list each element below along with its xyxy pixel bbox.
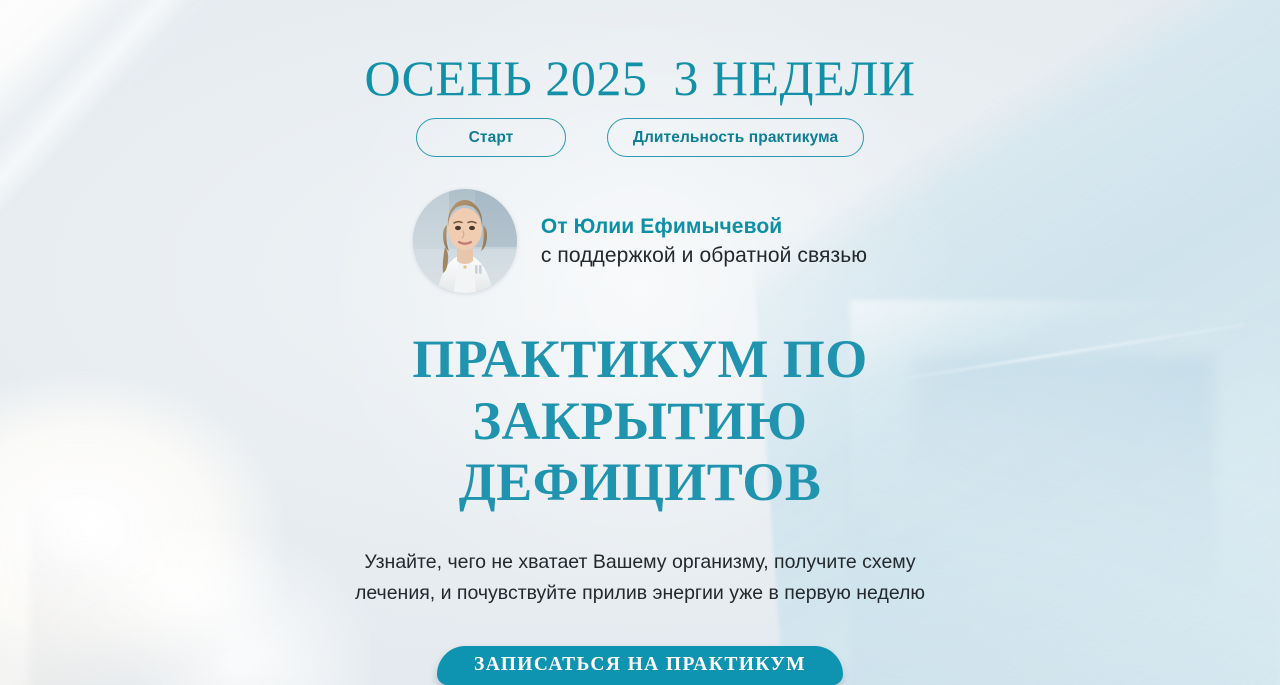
author-text: От Юлии Ефимычевой с поддержкой и обратн… <box>541 215 867 268</box>
headline: ОСЕНЬ 2025 3 НЕДЕЛИ <box>364 52 915 104</box>
hero-description-line-1: Узнайте, чего не хватает Вашему организм… <box>355 547 925 579</box>
hero-description: Узнайте, чего не хватает Вашему организм… <box>355 547 925 610</box>
author-name: От Юлии Ефимычевой <box>541 215 867 239</box>
signup-button[interactable]: ЗАПИСАТЬСЯ НА ПРАКТИКУМ <box>437 646 843 685</box>
pill-row: Старт Длительность практикума <box>416 118 864 157</box>
headline-duration: 3 НЕДЕЛИ <box>673 52 915 104</box>
page-title: ПРАКТИКУМ ПО ЗАКРЫТИЮ ДЕФИЦИТОВ <box>260 329 1020 514</box>
avatar <box>413 189 517 293</box>
pill-start-button[interactable]: Старт <box>416 118 566 157</box>
headline-season: ОСЕНЬ 2025 <box>364 52 647 104</box>
pill-duration-button[interactable]: Длительность практикума <box>607 118 864 157</box>
page-title-line-2: ДЕФИЦИТОВ <box>459 452 821 512</box>
author-subtitle: с поддержкой и обратной связью <box>541 244 867 268</box>
page-title-line-1: ПРАКТИКУМ ПО ЗАКРЫТИЮ <box>412 329 867 451</box>
hero-description-line-2: лечения, и почувствуйте прилив энергии у… <box>355 578 925 610</box>
landing-hero: ОСЕНЬ 2025 3 НЕДЕЛИ Старт Длительность п… <box>0 0 1280 685</box>
author-block: От Юлии Ефимычевой с поддержкой и обратн… <box>413 189 867 293</box>
